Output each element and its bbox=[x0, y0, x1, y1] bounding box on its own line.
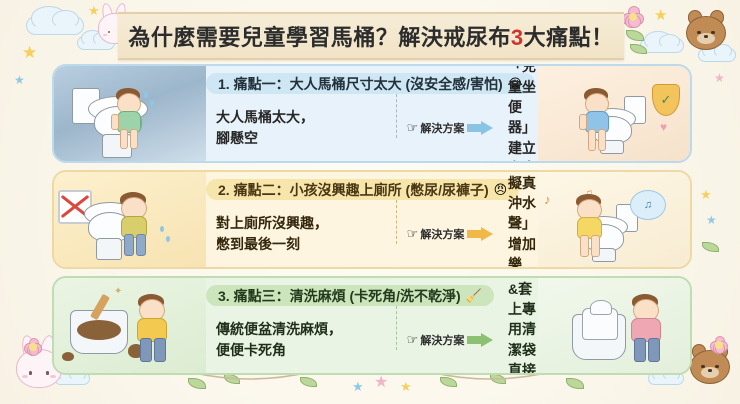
panel-3-solution-connector: ☞ 解決方案 bbox=[402, 332, 498, 348]
leaf-decoration bbox=[440, 377, 457, 387]
title-highlight: 3 bbox=[511, 25, 524, 50]
bear-decoration bbox=[686, 10, 726, 50]
pointing-hand-icon: ☞ bbox=[407, 121, 419, 134]
star-decoration: ★ bbox=[374, 375, 388, 391]
solution-line: 選擇幼兒專用「兒童坐便器」 bbox=[508, 64, 538, 138]
solution-tag: ☞ 解決方案 bbox=[407, 226, 494, 242]
panel-3-body: 傳統便盆清洗麻煩， 便便卡死角 ☞ 解決方案 鎖定「獨立便槽」&套上專用清潔袋 … bbox=[206, 310, 538, 369]
star-decoration: ★ bbox=[22, 44, 37, 61]
problem-line: 對上廁所沒興趣， bbox=[216, 213, 402, 233]
solution-line: 鎖定「獨立便槽」&套上專用清潔袋 bbox=[508, 276, 538, 360]
panel-1-problem-text: 大人馬桶太大， 腳懸空 bbox=[206, 107, 402, 148]
panel-1-solution-connector: ☞ 解決方案 bbox=[402, 120, 498, 136]
panel-3-problem-text: 傳統便盆清洗麻煩， 便便卡死角 bbox=[206, 319, 402, 360]
parent-cleaning-illustration bbox=[130, 294, 176, 364]
solution-line: 具備「音樂或擬真沖水聲」 bbox=[508, 170, 538, 234]
sad-child-illustration bbox=[108, 88, 148, 150]
pointing-hand-icon: ☞ bbox=[407, 227, 419, 240]
panel-3-solution-text: 鎖定「獨立便槽」&套上專用清潔袋 直接打包丟棄，輕鬆清理 bbox=[498, 276, 538, 375]
star-decoration: ★ bbox=[352, 380, 364, 393]
illustration-problem-3: ✦ bbox=[54, 278, 206, 373]
sparkle-icon: ✦ bbox=[114, 286, 122, 297]
leaf-decoration bbox=[626, 30, 644, 41]
star-decoration: ★ bbox=[654, 8, 667, 23]
leaf-decoration bbox=[702, 242, 719, 252]
illustration-solution-3 bbox=[538, 278, 690, 373]
dashed-divider bbox=[396, 200, 397, 244]
flower-decoration bbox=[24, 338, 42, 356]
panel-2-heading-pill: 2. 痛點二：小孩沒興趣上廁所 (憋尿/尿褲子) 😠 bbox=[206, 179, 519, 200]
pain-point-panel-3: ✦ 3. 痛點三：清洗麻煩 (卡死角/洗不乾淨) 🧹 傳統便盆清洗麻煩， 便便卡… bbox=[52, 276, 692, 375]
arrow-right-icon bbox=[467, 121, 493, 134]
drip-drop bbox=[160, 226, 164, 232]
solution-tag: ☞ 解決方案 bbox=[407, 120, 494, 136]
happy-child-illustration bbox=[576, 88, 616, 150]
pain-point-panel-2: 2. 痛點二：小孩沒興趣上廁所 (憋尿/尿褲子) 😠 對上廁所沒興趣， 憋到最後… bbox=[52, 170, 692, 269]
music-notes-icon: ♫ bbox=[644, 199, 652, 211]
panel-1-heading-text: 1. 痛點一：大人馬桶尺寸太大 (沒安全感/害怕) bbox=[218, 74, 503, 94]
panel-2-problem-text: 對上廁所沒興趣， 憋到最後一刻 bbox=[206, 213, 402, 254]
cloud-decoration bbox=[698, 48, 736, 62]
pain-point-panel-1: 1. 痛點一：大人馬桶尺寸太大 (沒安全感/害怕) 😭 大人馬桶太大， 腳懸空 … bbox=[52, 64, 692, 163]
broom-icon: 🧹 bbox=[466, 289, 482, 302]
illustration-solution-1: ✓ ♥ bbox=[538, 66, 690, 161]
star-decoration: ★ bbox=[706, 214, 717, 226]
problem-line: 傳統便盆清洗麻煩， bbox=[216, 319, 402, 339]
illustration-solution-2: ♪ ♫ ♫ bbox=[538, 172, 690, 267]
problem-line: 腳懸空 bbox=[216, 128, 402, 148]
leaf-decoration bbox=[566, 378, 584, 389]
star-decoration: ★ bbox=[714, 72, 725, 84]
panel-1-heading-pill: 1. 痛點一：大人馬桶尺寸太大 (沒安全感/害怕) 😭 bbox=[206, 73, 535, 94]
problem-line: 便便卡死角 bbox=[216, 340, 402, 360]
reluctant-child-illustration bbox=[112, 192, 156, 258]
heart-icon: ♥ bbox=[660, 120, 667, 134]
title-suffix: 大痛點！ bbox=[524, 25, 614, 50]
solution-label: 解決方案 bbox=[420, 332, 464, 348]
solution-line: 增加樂趣，激發探索興趣 bbox=[508, 234, 538, 270]
solution-label: 解決方案 bbox=[420, 120, 464, 136]
dashed-divider bbox=[396, 306, 397, 350]
flower-decoration bbox=[710, 336, 728, 354]
problem-line: 大人馬桶太大， bbox=[216, 107, 402, 127]
leaf-decoration bbox=[188, 378, 206, 389]
panel-1-body: 大人馬桶太大， 腳懸空 ☞ 解決方案 選擇幼兒專用「兒童坐便器」 建立安全感，腳… bbox=[206, 98, 538, 157]
pointing-hand-icon: ☞ bbox=[407, 333, 419, 346]
disposal-bag-icon bbox=[582, 308, 618, 340]
solution-line: 建立安全感，腳平踏在地 bbox=[508, 138, 538, 163]
arrow-right-icon bbox=[467, 227, 493, 240]
flower-decoration bbox=[622, 6, 644, 28]
solution-line: 直接打包丟棄，輕鬆清理 bbox=[508, 360, 538, 375]
panel-2-solution-text: 具備「音樂或擬真沖水聲」 增加樂趣，激發探索興趣 bbox=[498, 170, 538, 269]
panel-1-solution-text: 選擇幼兒專用「兒童坐便器」 建立安全感，腳平踏在地 bbox=[498, 64, 538, 163]
parent-disposing-illustration bbox=[624, 294, 670, 364]
tear-drop bbox=[150, 100, 154, 106]
drip-drop bbox=[166, 236, 170, 242]
solution-tag: ☞ 解決方案 bbox=[407, 332, 494, 348]
star-decoration: ★ bbox=[400, 380, 412, 393]
infographic-page: ★ ★ ★ ★ ★ ★ ★ ★ ★ ★ 為什麼需要兒童學習馬桶？解決戒尿布3大痛… bbox=[0, 0, 740, 404]
title-banner: 為什麼需要兒童學習馬桶？解決戒尿布3大痛點！ bbox=[118, 12, 624, 60]
leaf-decoration bbox=[300, 377, 317, 387]
happy-child-illustration bbox=[568, 194, 610, 258]
dashed-divider bbox=[396, 94, 397, 138]
illustration-problem-1 bbox=[54, 66, 206, 161]
illustration-problem-2 bbox=[54, 172, 206, 267]
panel-2-heading-text: 2. 痛點二：小孩沒興趣上廁所 (憋尿/尿褲子) bbox=[218, 180, 489, 200]
music-speech-bubble: ♫ bbox=[630, 190, 666, 220]
star-decoration: ★ bbox=[700, 188, 712, 201]
leaf-decoration bbox=[224, 374, 240, 384]
panel-3-heading-pill: 3. 痛點三：清洗麻煩 (卡死角/洗不乾淨) 🧹 bbox=[206, 285, 494, 306]
panel-2-body: 對上廁所沒興趣， 憋到最後一刻 ☞ 解決方案 具備「音樂或擬真沖水聲」 增加樂趣… bbox=[206, 204, 538, 263]
cloud-decoration bbox=[26, 16, 84, 35]
problem-line: 憋到最後一刻 bbox=[216, 234, 402, 254]
page-title: 為什麼需要兒童學習馬桶？解決戒尿布3大痛點！ bbox=[128, 20, 613, 52]
title-prefix: 為什麼需要兒童學習馬桶？解決戒尿布 bbox=[128, 25, 511, 50]
leaf-decoration bbox=[490, 374, 506, 384]
arrow-right-icon bbox=[467, 333, 493, 346]
mess-blob bbox=[62, 352, 74, 361]
panel-3-heading-text: 3. 痛點三：清洗麻煩 (卡死角/洗不乾淨) bbox=[218, 286, 461, 306]
tear-drop bbox=[144, 92, 148, 98]
panel-2-solution-connector: ☞ 解決方案 bbox=[402, 226, 498, 242]
music-note-icon: ♪ bbox=[544, 192, 551, 207]
solution-label: 解決方案 bbox=[420, 226, 464, 242]
shield-check-icon: ✓ bbox=[652, 84, 680, 116]
check-glyph: ✓ bbox=[661, 92, 672, 108]
star-decoration: ★ bbox=[14, 74, 25, 86]
